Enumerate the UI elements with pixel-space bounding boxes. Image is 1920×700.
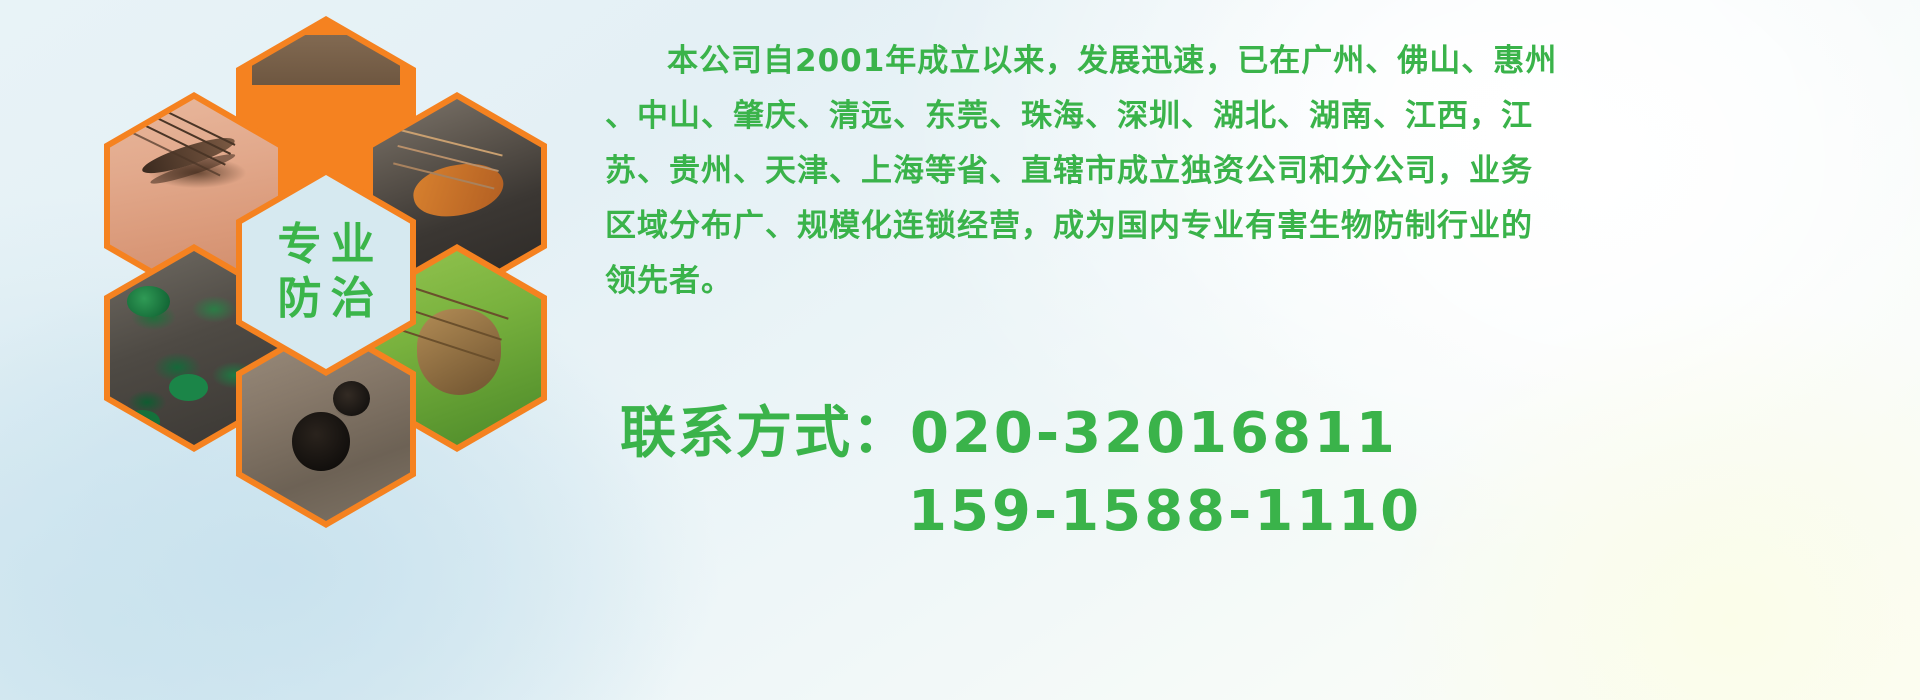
promo-banner: 专业 防治 本公司自2001年成立以来，发展迅速，已在广州、佛山、惠州 、中山、… <box>0 0 1920 700</box>
slogan-line-1: 专业 <box>269 221 384 269</box>
description-line-5: 领先者。 <box>605 254 1905 309</box>
phone-secondary[interactable]: 159-1588-1110 <box>620 473 1910 551</box>
contact-label: 联系方式： <box>620 401 910 466</box>
slogan-line-2: 防治 <box>269 275 384 323</box>
honeycomb-photo-cluster: 专业 防治 <box>90 10 590 570</box>
description-line-2: 、中山、肇庆、清远、东莞、珠海、深圳、湖北、湖南、江西，江 <box>605 89 1905 144</box>
contact-block: 联系方式：020-32016811 159-1588-1110 <box>620 395 1910 551</box>
description-line-1: 本公司自2001年成立以来，发展迅速，已在广州、佛山、惠州 <box>605 34 1905 89</box>
contact-primary-line: 联系方式：020-32016811 <box>620 395 1910 473</box>
phone-primary[interactable]: 020-32016811 <box>910 401 1398 466</box>
description-line-3: 苏、贵州、天津、上海等省、直辖市成立独资公司和分公司，业务 <box>605 144 1905 199</box>
description-line-4: 区域分布广、规模化连锁经营，成为国内专业有害生物防制行业的 <box>605 199 1905 254</box>
company-description: 本公司自2001年成立以来，发展迅速，已在广州、佛山、惠州 、中山、肇庆、清远、… <box>605 34 1905 309</box>
